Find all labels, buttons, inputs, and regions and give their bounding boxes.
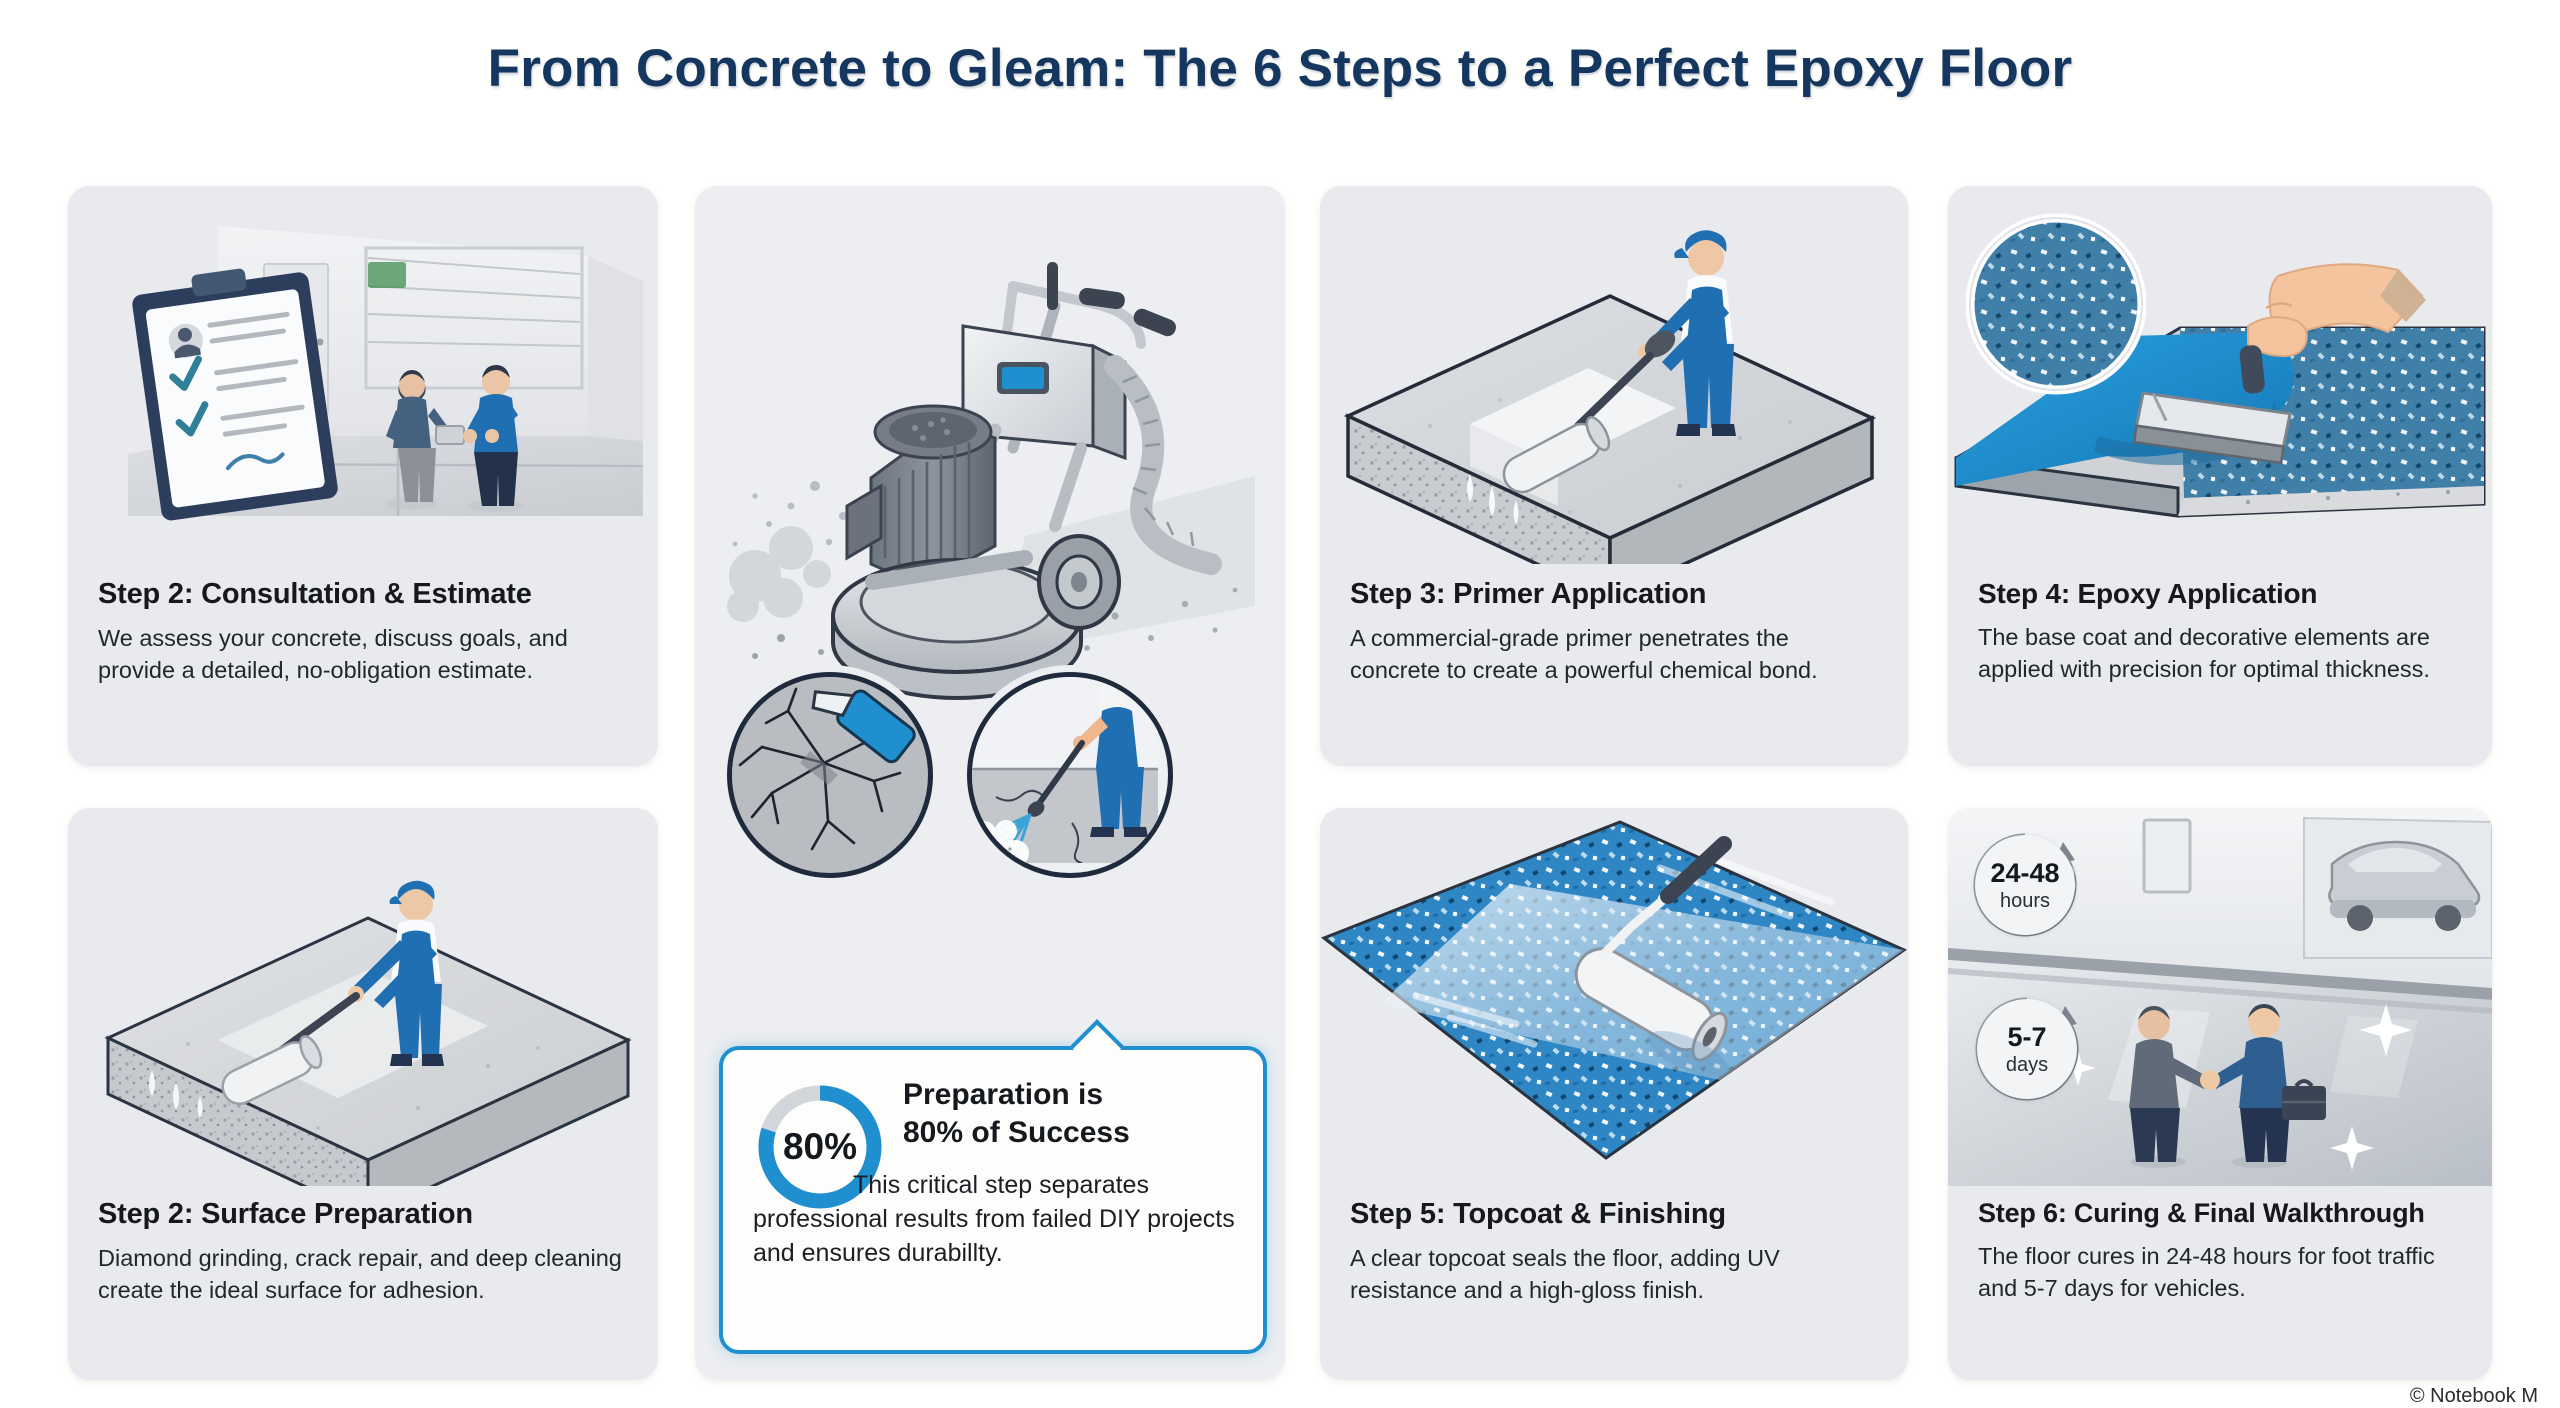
timer-badge-disc: 5-7 days — [1977, 999, 2077, 1099]
step-card-primer: Step 3: Primer Application A commercial-… — [1320, 186, 1908, 766]
consultation-text-block: Step 2: Consultation & Estimate We asses… — [98, 578, 632, 686]
callout-heading-line2: 80% of Success — [903, 1114, 1130, 1152]
curing-text-block: Step 6: Curing & Final Walkthrough The f… — [1978, 1198, 2466, 1304]
surface-preparation-illustration — [68, 808, 658, 1186]
page-title: From Concrete to Gleam: The 6 Steps to a… — [0, 38, 2560, 99]
step-card-epoxy: Step 4: Epoxy Application The base coat … — [1948, 186, 2492, 766]
floor-grinder-illustration — [695, 186, 1285, 716]
card-title: Step 4: Epoxy Application — [1978, 578, 2466, 610]
timer-badge-24-48-hours: 24-48 hours — [1966, 826, 2084, 944]
topcoat-text-block: Step 5: Topcoat & Finishing A clear topc… — [1350, 1198, 1882, 1306]
step-card-surface-preparation: Step 2: Surface Preparation Diamond grin… — [68, 808, 658, 1380]
card-description: A clear topcoat seals the floor, adding … — [1350, 1242, 1882, 1306]
card-title: Step 6: Curing & Final Walkthrough — [1978, 1198, 2466, 1229]
card-description: Diamond grinding, crack repair, and deep… — [98, 1242, 632, 1306]
epoxy-text-block: Step 4: Epoxy Application The base coat … — [1978, 578, 2466, 685]
timer-unit: hours — [2000, 891, 2050, 911]
timer-unit: days — [2006, 1055, 2048, 1075]
topcoat-illustration — [1320, 808, 1908, 1186]
primer-text-block: Step 3: Primer Application A commercial-… — [1350, 578, 1882, 686]
detail-circle-group — [695, 664, 1285, 884]
callout-body: This critical step separates professiona… — [753, 1168, 1239, 1270]
callout-heading: Preparation is 80% of Success — [903, 1076, 1130, 1152]
connector-lines — [695, 664, 1285, 884]
card-title: Step 2: Consultation & Estimate — [98, 578, 632, 611]
card-title: Step 3: Primer Application — [1350, 578, 1882, 611]
card-description: The floor cures in 24-48 hours for foot … — [1978, 1240, 2466, 1304]
consultation-illustration — [68, 186, 658, 564]
card-description: The base coat and decorative elements ar… — [1978, 621, 2466, 685]
watermark-text: © Notebook M — [2410, 1385, 2538, 1408]
epoxy-illustration — [1948, 186, 2492, 564]
step-card-topcoat: Step 5: Topcoat & Finishing A clear topc… — [1320, 808, 1908, 1380]
card-title: Step 2: Surface Preparation — [98, 1198, 632, 1231]
card-title: Step 5: Topcoat & Finishing — [1350, 1198, 1882, 1231]
step-card-curing: 24-48 hours 5-7 days Step 6: Curing & Fi… — [1948, 808, 2492, 1380]
card-description: A commercial-grade primer penetrates the… — [1350, 622, 1882, 686]
timer-value: 5-7 — [2007, 1024, 2046, 1051]
timer-badge-5-7-days: 5-7 days — [1968, 990, 2086, 1108]
primer-illustration — [1320, 186, 1908, 564]
timer-value: 24-48 — [1990, 860, 2059, 887]
card-description: We assess your concrete, discuss goals, … — [98, 622, 632, 686]
center-feature-grinding-panel: 80% Preparation is 80% of Success This c… — [695, 186, 1285, 1380]
callout-heading-line1: Preparation is — [903, 1076, 1130, 1114]
surface-preparation-text-block: Step 2: Surface Preparation Diamond grin… — [98, 1198, 632, 1306]
step-card-consultation: Step 2: Consultation & Estimate We asses… — [68, 186, 658, 766]
preparation-stat-callout: 80% Preparation is 80% of Success This c… — [719, 1046, 1267, 1354]
timer-badge-disc: 24-48 hours — [1975, 835, 2075, 935]
